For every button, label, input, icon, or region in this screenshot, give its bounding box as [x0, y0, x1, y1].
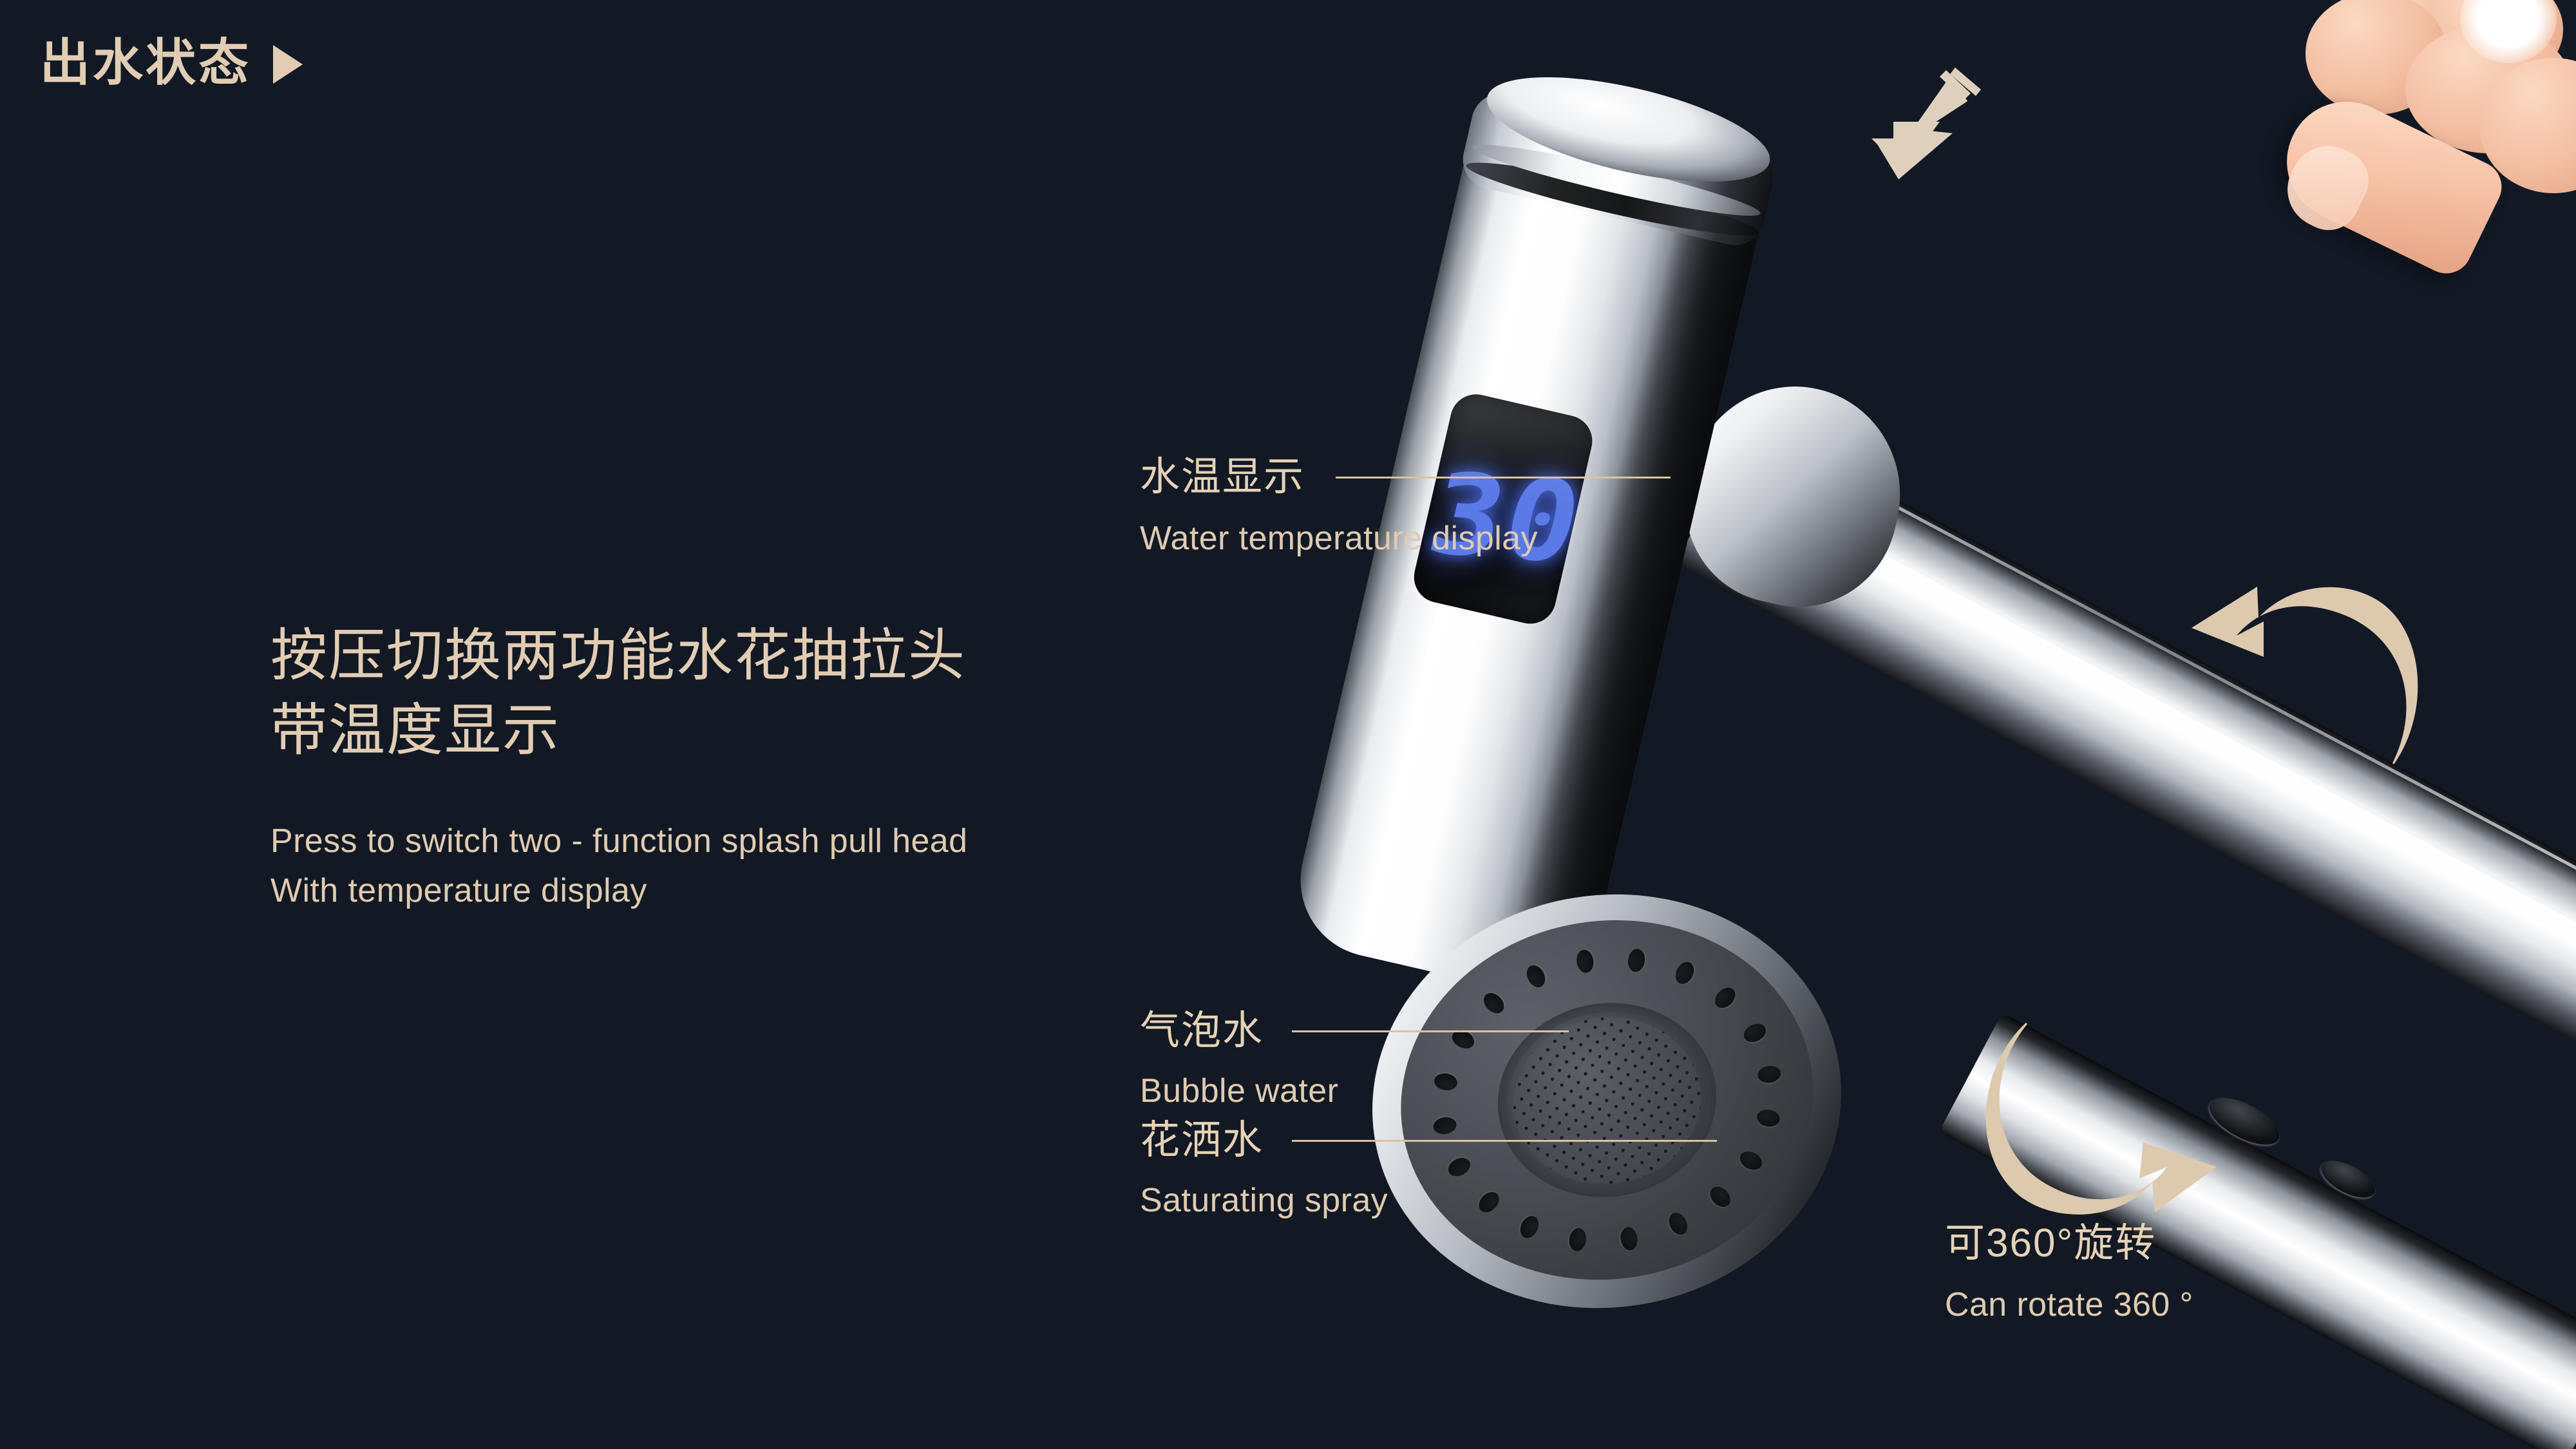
spray-hole — [1619, 1226, 1639, 1252]
feature-copy-block: 按压切换两功能水花抽拉头 带温度显示 Press to switch two -… — [270, 618, 967, 916]
callout-label-en: Can rotate 360 ° — [1945, 1288, 2193, 1321]
press-down-arrow-icon — [1868, 68, 1990, 196]
feature-subtitle-block: Press to switch two - function splash pu… — [270, 817, 967, 916]
spray-hole — [1523, 962, 1549, 990]
callout-rotation: 可360°旋转 Can rotate 360 ° — [1945, 1224, 2193, 1321]
callout-row: 花洒水 — [1140, 1121, 1717, 1160]
index-finger — [2267, 82, 2510, 282]
hand — [2267, 0, 2576, 374]
page-title: 出水状态 — [40, 37, 251, 88]
callout-water-temperature-display: 水温显示 Water temperature display — [1140, 457, 1671, 555]
callout-label-cn: 可360°旋转 — [1945, 1224, 2193, 1264]
callout-bubble-water: 气泡水 Bubble water — [1140, 1011, 1569, 1108]
leader-line — [1336, 477, 1671, 478]
spout-release-slot-upper — [2202, 1088, 2286, 1154]
callout-label-en: Bubble water — [1140, 1074, 1569, 1108]
spray-hole — [1711, 983, 1739, 1012]
knuckle-1 — [2344, 0, 2479, 71]
knuckle-4 — [2405, 24, 2573, 153]
spout-highlight — [1713, 470, 2576, 1013]
head-ring-dark — [1463, 151, 1762, 247]
fingernail — [2275, 133, 2379, 241]
spray-hole — [1626, 947, 1646, 973]
spout-joint — [1665, 365, 1922, 627]
spray-hole — [1756, 1108, 1781, 1128]
rotate-clockwise-arrow-icon — [1971, 985, 2241, 1230]
callout-label-cn: 花洒水 — [1140, 1121, 1264, 1160]
leader-line — [1292, 1140, 1717, 1142]
feature-heading-line-1: 按压切换两功能水花抽拉头 — [270, 618, 967, 693]
spray-hole — [1756, 1065, 1782, 1084]
faucet-pull-head: 30 — [1186, 14, 1847, 1176]
head-top-button[interactable] — [1478, 56, 1779, 203]
callout-row: 气泡水 — [1140, 1011, 1569, 1051]
background-highlight — [2460, 0, 2557, 63]
head-collar — [1457, 88, 1779, 251]
spray-hole — [1567, 1227, 1587, 1253]
head-ring-bright — [1470, 135, 1763, 226]
feature-subtitle-line-1: Press to switch two - function splash pu… — [270, 817, 967, 866]
callout-label-en: Saturating spray — [1140, 1184, 1717, 1217]
spray-hole — [1517, 1213, 1542, 1242]
spray-hole — [1737, 1148, 1765, 1174]
head-edge-shadow — [1500, 171, 1768, 999]
feature-subtitle-line-2: With temperature display — [270, 866, 967, 916]
callout-saturating-spray: 花洒水 Saturating spray — [1140, 1121, 1717, 1217]
knuckle-2 — [2428, 0, 2563, 86]
leader-line — [1292, 1030, 1569, 1032]
spray-hole — [1575, 949, 1595, 974]
product-feature-slide: 30 — [0, 0, 2576, 1449]
spout-arm — [1675, 422, 2576, 1084]
play-triangle-icon — [273, 45, 303, 84]
callout-label-cn: 水温显示 — [1140, 457, 1305, 497]
spout-release-slot-lower — [2316, 1153, 2381, 1205]
spray-hole — [1672, 958, 1698, 987]
spout-seam — [1747, 426, 2576, 949]
knuckle-5 — [2479, 58, 2576, 193]
callout-label-en: Water temperature display — [1140, 522, 1671, 555]
feature-heading-line-2: 带温度显示 — [270, 693, 967, 768]
callout-label-cn: 气泡水 — [1140, 1011, 1264, 1051]
knuckle-3 — [2306, 0, 2447, 115]
rotate-counterclockwise-arrow-icon — [2167, 576, 2425, 802]
callout-row: 水温显示 — [1140, 457, 1671, 497]
header: 出水状态 — [40, 37, 303, 88]
spray-hole — [1741, 1020, 1769, 1046]
